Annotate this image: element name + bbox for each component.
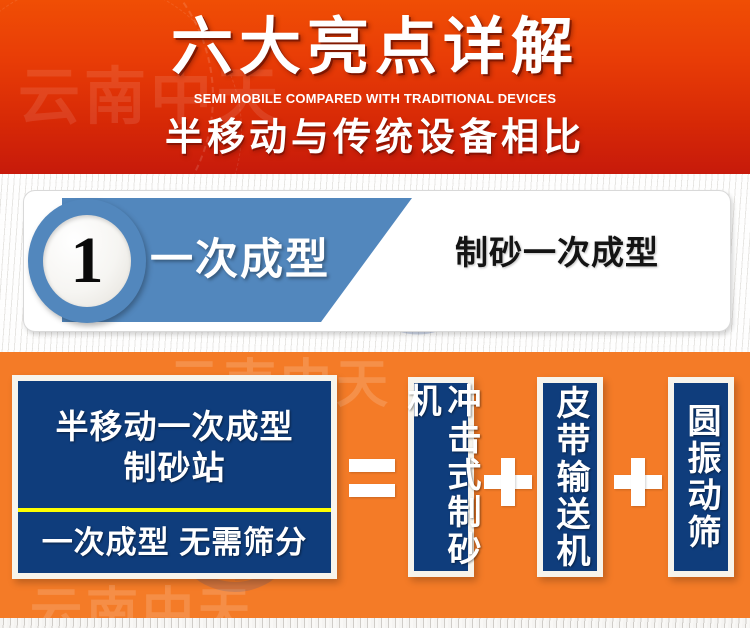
page-subtitle-english: SEMI MOBILE COMPARED WITH TRADITIONAL DE… xyxy=(0,92,750,106)
plus-sign-icon-2 xyxy=(614,458,662,506)
plus-sign-icon-1 xyxy=(484,458,532,506)
footer-texture-strip xyxy=(0,618,750,628)
header-banner: 云南中天 六大亮点详解 SEMI MOBILE COMPARED WITH TR… xyxy=(0,0,750,174)
feature-number: 1 xyxy=(43,215,131,307)
main-product-line1: 半移动一次成型 xyxy=(56,406,294,447)
main-product-title-group: 半移动一次成型 制砂站 xyxy=(18,381,331,508)
main-product-box: 半移动一次成型 制砂站 一次成型 无需筛分 xyxy=(12,375,337,579)
component-box-3-inner: 圆振动筛 xyxy=(674,383,728,571)
main-product-box-inner: 半移动一次成型 制砂站 一次成型 无需筛分 xyxy=(18,381,331,573)
component-box-2-inner: 皮带输送机 xyxy=(543,383,597,571)
feature-banner-label: 一次成型 xyxy=(150,226,380,294)
component-label-2: 皮带输送机 xyxy=(550,385,590,570)
main-product-line2: 制砂站 xyxy=(124,447,226,488)
component-box-2: 皮带输送机 xyxy=(537,377,603,577)
component-box-1-inner: 冲击式制砂机 xyxy=(414,383,468,571)
component-box-3: 圆振动筛 xyxy=(668,377,734,577)
poster-root: 云南中天 六大亮点详解 SEMI MOBILE COMPARED WITH TR… xyxy=(0,0,750,628)
feature-number-badge: 1 xyxy=(28,199,146,323)
main-product-line3: 一次成型 无需筛分 xyxy=(42,524,308,562)
feature-number-badge-inner: 1 xyxy=(43,215,131,307)
equals-sign-icon xyxy=(349,459,395,497)
component-label-3: 圆振动筛 xyxy=(681,403,721,551)
main-product-subtitle-group: 一次成型 无需筛分 xyxy=(18,512,331,573)
page-title: 六大亮点详解 xyxy=(0,17,750,79)
component-box-1: 冲击式制砂机 xyxy=(408,377,474,577)
page-subtitle-chinese: 半移动与传统设备相比 xyxy=(0,117,750,159)
component-label-1: 冲击式制砂机 xyxy=(401,383,481,571)
feature-description: 制砂一次成型 xyxy=(455,233,659,273)
